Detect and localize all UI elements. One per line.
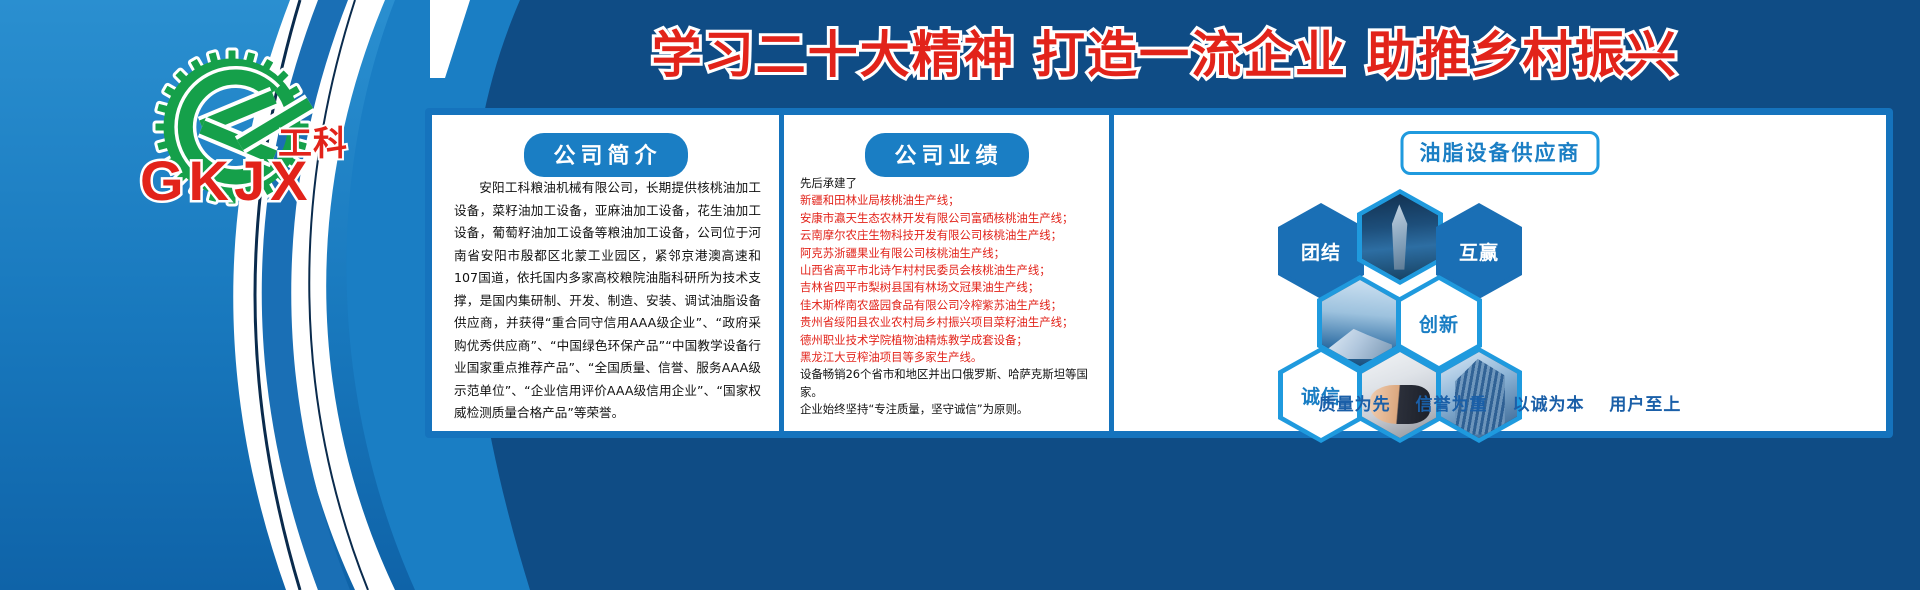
panel-title-company-profile: 公司简介 xyxy=(523,133,687,177)
performance-project-item: 贵州省绥阳县农业农村局乡村振兴项目菜籽油生产线； xyxy=(800,314,1097,331)
hexagon-cluster: 团结 互赢 创新 诚信 xyxy=(1114,171,1886,381)
performance-footer-line: 设备畅销26个省市和地区并出口俄罗斯、哈萨克斯坦等国家。 xyxy=(800,366,1097,401)
performance-footer-line: 企业始终坚持“专注质量，坚守诚信”为原则。 xyxy=(800,401,1097,418)
supplier-slogan: 质量为先 信誉为重 以诚为本 用户至上 xyxy=(1114,390,1886,415)
panel-title-company-performance: 公司业绩 xyxy=(864,133,1028,177)
hex-label: 创新 xyxy=(1419,310,1459,337)
performance-project-item: 云南摩尔农庄生物科技开发有限公司核桃油生产线； xyxy=(800,227,1097,244)
slogan-part: 以诚为本 xyxy=(1512,395,1584,415)
performance-project-item: 安康市瀛天生态农林开发有限公司富硒核桃油生产线； xyxy=(800,210,1097,227)
performance-project-item: 德州职业技术学院植物油精炼教学成套设备； xyxy=(800,332,1097,349)
performance-project-item: 吉林省四平市梨树县国有林场文冠果油生产线； xyxy=(800,279,1097,296)
company-profile-body: 安阳工科粮油机械有限公司，长期提供核桃油加工设备，菜籽油加工设备，亚麻油加工设备… xyxy=(454,177,761,425)
hex-aircraft-carrier-photo xyxy=(1357,189,1443,285)
logo-latin-text: GKJX xyxy=(140,148,313,213)
panel-title-supplier: 油脂设备供应商 xyxy=(1401,131,1600,175)
company-performance-body: 先后承建了 新疆和田林业局核桃油生产线；安康市瀛天生态农林开发有限公司富硒核桃油… xyxy=(800,175,1097,419)
performance-project-item: 阿克苏浙疆果业有限公司核桃油生产线； xyxy=(800,245,1097,262)
performance-project-item: 山西省高平市北诗乍村村民委员会核桃油生产线； xyxy=(800,262,1097,279)
panel-company-profile: 公司简介 安阳工科粮油机械有限公司，长期提供核桃油加工设备，菜籽油加工设备，亚麻… xyxy=(432,115,784,431)
hex-label: 互赢 xyxy=(1459,238,1499,265)
poster-canvas: 工科 GKJX 学习二十大精神 打造一流企业 助推乡村振兴 公司简介 安阳工科粮… xyxy=(0,0,1920,590)
performance-project-item: 黑龙江大豆榨油项目等多家生产线。 xyxy=(800,349,1097,366)
panel-company-performance: 公司业绩 先后承建了 新疆和田林业局核桃油生产线；安康市瀛天生态农林开发有限公司… xyxy=(784,115,1114,431)
performance-project-item: 佳木斯桦南农盛园食品有限公司冷榨紫苏油生产线； xyxy=(800,297,1097,314)
performance-project-list: 新疆和田林业局核桃油生产线；安康市瀛天生态农林开发有限公司富硒核桃油生产线；云南… xyxy=(800,192,1097,366)
slogan-part: 质量为先 xyxy=(1319,395,1391,415)
slogan-part: 用户至上 xyxy=(1609,395,1681,415)
performance-footer: 设备畅销26个省市和地区并出口俄罗斯、哈萨克斯坦等国家。企业始终坚持“专注质量，… xyxy=(800,366,1097,418)
panel-supplier: 油脂设备供应商 团结 互赢 创新 xyxy=(1114,115,1886,431)
hex-label: 团结 xyxy=(1301,238,1341,265)
slogan-part: 信誉为重 xyxy=(1416,395,1488,415)
page-title: 学习二十大精神 打造一流企业 助推乡村振兴 xyxy=(430,22,1900,88)
performance-project-item: 新疆和田林业局核桃油生产线； xyxy=(800,192,1097,209)
content-frame: 公司简介 安阳工科粮油机械有限公司，长期提供核桃油加工设备，菜籽油加工设备，亚麻… xyxy=(425,108,1893,438)
performance-intro: 先后承建了 xyxy=(800,175,1097,192)
